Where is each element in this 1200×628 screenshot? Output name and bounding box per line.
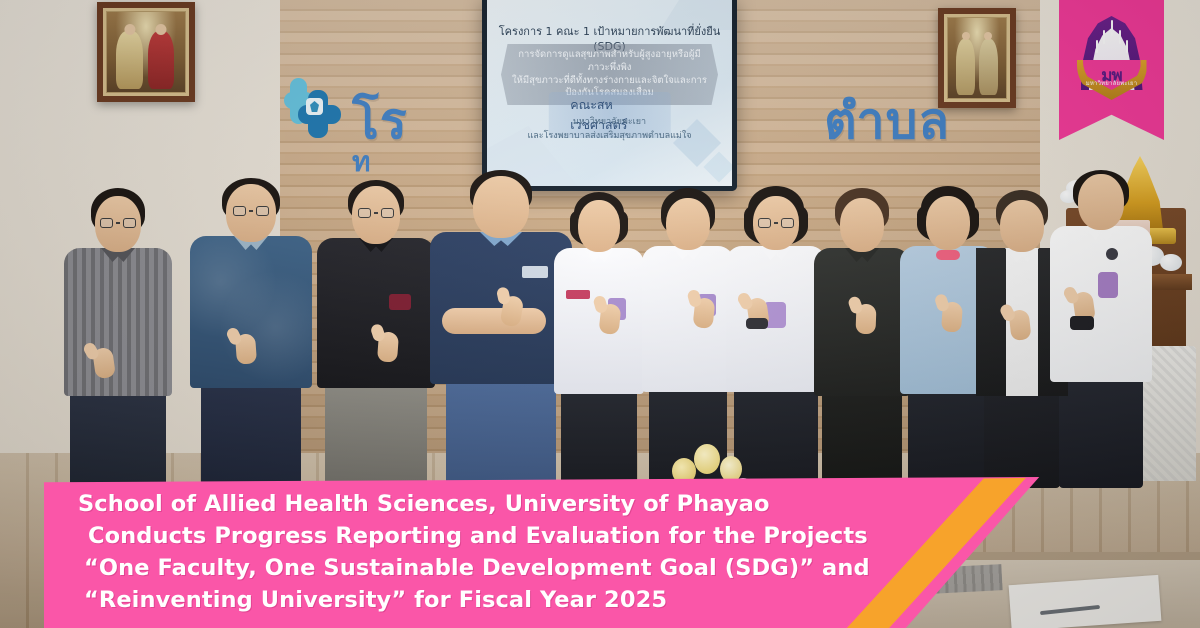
thumbs-up-hand [235,333,257,364]
chest-logo [522,266,548,278]
head [1078,174,1124,230]
legs-trousers [325,380,427,488]
head [1000,200,1044,252]
emblem-spire [1111,20,1113,36]
flower-bouquet [668,444,780,556]
torso-uniform [726,246,826,392]
legs-trousers [822,388,902,488]
chest-logo [389,294,411,310]
emblem-spire [1119,30,1121,44]
head [578,200,620,252]
torso-polo [317,238,435,388]
glasses-icon [758,218,794,228]
legs-trousers [984,388,1060,488]
group-of-people [0,0,1200,560]
legs-trousers [201,380,301,488]
flower [740,506,766,532]
thumbs-up-hand [941,301,963,332]
head [666,198,710,250]
person-man-blue-jacket [188,178,314,488]
glasses-icon [100,218,136,228]
legs-trousers [1059,374,1143,488]
glasses-icon [233,206,269,216]
uniform-name-tag [566,290,590,299]
torso-uniform [642,246,734,392]
glasses-icon [358,208,394,218]
uniform-pin [1106,248,1118,260]
wrist-watch [746,318,768,329]
university-of-phayao-emblem: มพ มหาวิทยาลัยพะเยา [1075,16,1149,108]
thumbs-up-hand [855,304,876,335]
emblem-crescent-text: มหาวิทยาลัยพะเยา [1075,78,1149,88]
person-man-grey-striped-shirt [60,188,176,488]
water-bottle [855,518,878,570]
legs-jeans [446,376,556,488]
person-man-white-uniform [1048,170,1154,488]
legs-trousers [561,386,637,488]
head [926,196,970,250]
flower [694,444,720,474]
uniform-badge [1098,272,1118,298]
inner-shirt [936,250,960,260]
torso-jacket [190,236,312,388]
emblem-spire [1096,40,1098,53]
flower [708,518,744,550]
paper-documents [1009,575,1162,628]
legs-trousers [70,388,166,488]
emblem-spire [1126,40,1128,53]
metal-tray [929,564,1002,594]
thumbs-up-hand [1008,309,1031,341]
person-woman-white-uniform-2 [640,188,736,488]
thumbs-up-hand [377,331,399,362]
head [473,176,529,238]
jacket-panel [976,248,1006,396]
flower [672,458,696,484]
head [840,198,884,252]
wrist-watch [1070,316,1094,330]
screenshot-canvas: โร ตำบล ท โครงการ 1 คณะ 1 เป้าหมายการพัฒ… [0,0,1200,628]
emblem-spire [1103,30,1105,44]
crossed-arms [442,308,546,334]
torso-uniform [1050,226,1152,382]
legs-trousers [908,386,988,488]
person-man-black-polo [316,180,436,488]
torso-shirt [64,248,172,396]
person-woman-black-blouse [812,188,912,488]
flower [674,512,708,542]
